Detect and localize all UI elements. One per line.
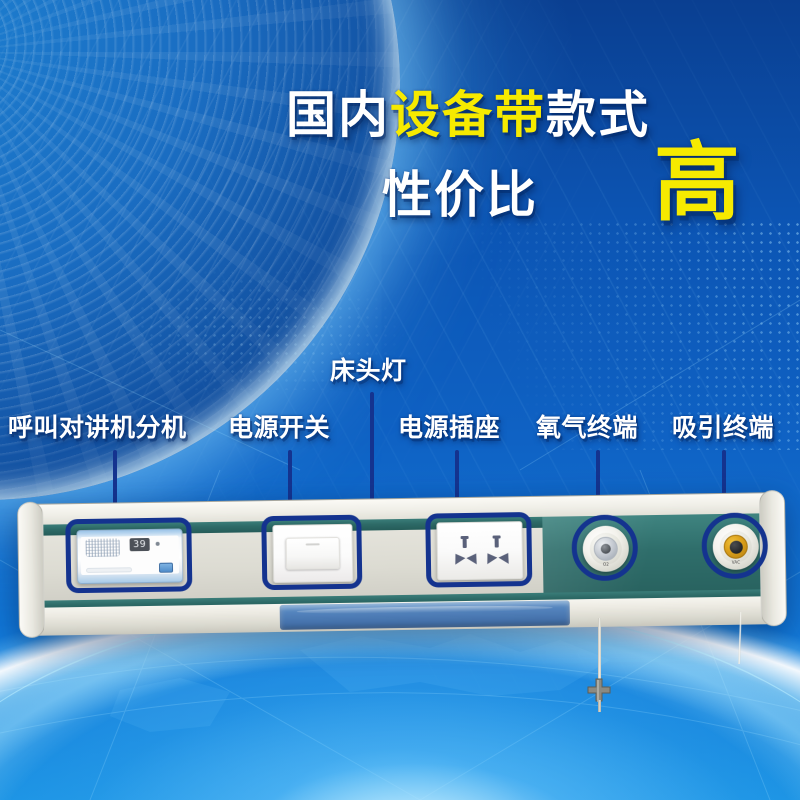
rocker-switch-icon[interactable] — [286, 537, 340, 570]
oxygen-terminal-port-icon[interactable] — [601, 544, 611, 554]
callout-bed-lamp-label: 床头灯 — [330, 358, 407, 383]
pull-cord-tail — [598, 700, 601, 712]
callout-suction-terminal-label: 吸引终端 — [672, 415, 774, 440]
socket-pin-top-icon — [495, 536, 499, 547]
medical-bedhead-panel: bed-lamp-strip 39 — [23, 492, 781, 636]
socket-pin-right-icon — [466, 550, 481, 564]
panel-body: bed-lamp-strip 39 — [23, 492, 781, 636]
callout-oxygen-terminal-label: 氧气终端 — [536, 415, 638, 440]
socket-pin-left-icon — [450, 551, 465, 565]
suction-terminal-unit[interactable]: VAC — [712, 523, 759, 570]
intercom-display: 39 — [130, 538, 150, 551]
panel-end-cap-right — [759, 490, 787, 626]
call-intercom-unit[interactable]: 39 — [76, 528, 183, 584]
callout-layer: 呼叫对讲机分机 电源开关 床头灯 电源插座 氧气终端 吸引终端 — [0, 0, 800, 800]
intercom-slot — [86, 567, 132, 573]
socket-outlet-right[interactable] — [484, 536, 512, 566]
socket-pin-top-icon — [463, 537, 467, 548]
status-led-icon — [156, 542, 160, 546]
socket-pin-right-icon — [498, 550, 513, 564]
suction-terminal-port-icon[interactable] — [730, 541, 743, 554]
callout-call-intercom-label: 呼叫对讲机分机 — [8, 415, 187, 440]
bed-lamp-strip[interactable]: bed-lamp-strip — [280, 600, 570, 630]
socket-outlet-left[interactable] — [452, 537, 480, 567]
socket-pin-left-icon — [482, 550, 497, 564]
intercom-call-button[interactable] — [159, 563, 173, 573]
power-socket-unit[interactable] — [436, 521, 523, 580]
speaker-grille-icon — [86, 538, 120, 557]
oxygen-terminal-unit[interactable]: O2 — [582, 525, 629, 572]
callout-power-switch-label: 电源开关 — [228, 415, 330, 440]
callout-power-socket-label: 电源插座 — [398, 415, 500, 440]
suction-terminal-marking: VAC — [713, 559, 759, 565]
panel-end-cap-left — [17, 502, 45, 638]
poster-canvas: 国内设备带款式 性价比 高 呼叫对讲机分机 电源开关 床头灯 电源插座 氧气终端… — [0, 0, 800, 800]
oxygen-terminal-marking: O2 — [583, 561, 629, 567]
power-switch-unit[interactable] — [272, 524, 353, 583]
